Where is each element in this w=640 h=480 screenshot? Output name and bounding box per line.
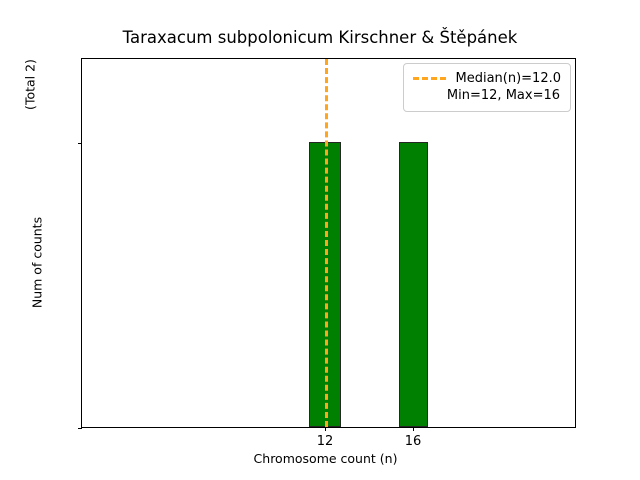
dashed-line-icon (413, 77, 446, 80)
chart-figure: Taraxacum subpolonicum Kirschner & Štěpá… (0, 0, 640, 480)
ytick-mark-1 (78, 143, 82, 144)
plot-inner (82, 59, 575, 427)
xtick-mark-12 (325, 427, 326, 431)
legend-label-minmax: Min=12, Max=16 (413, 87, 561, 104)
plot-area: 0 1 Num of counts (Total 2) 12 16 Median… (81, 58, 576, 428)
x-axis-label: Chromosome count (n) (81, 452, 570, 466)
bar-16 (399, 142, 428, 427)
median-line (325, 59, 328, 427)
y-axis-sublabel: (Total 2) (23, 0, 38, 225)
xtick-label-16: 16 (383, 435, 443, 449)
xtick-label-12: 12 (295, 435, 355, 449)
legend-entry-median: Median(n)=12.0 (413, 70, 561, 87)
page-title: Taraxacum subpolonicum Kirschner & Štěpá… (0, 28, 640, 48)
legend: Median(n)=12.0 Min=12, Max=16 (403, 63, 571, 112)
xtick-mark-16 (413, 427, 414, 431)
legend-label-median: Median(n)=12.0 (455, 70, 561, 87)
ytick-mark-0 (78, 428, 82, 429)
